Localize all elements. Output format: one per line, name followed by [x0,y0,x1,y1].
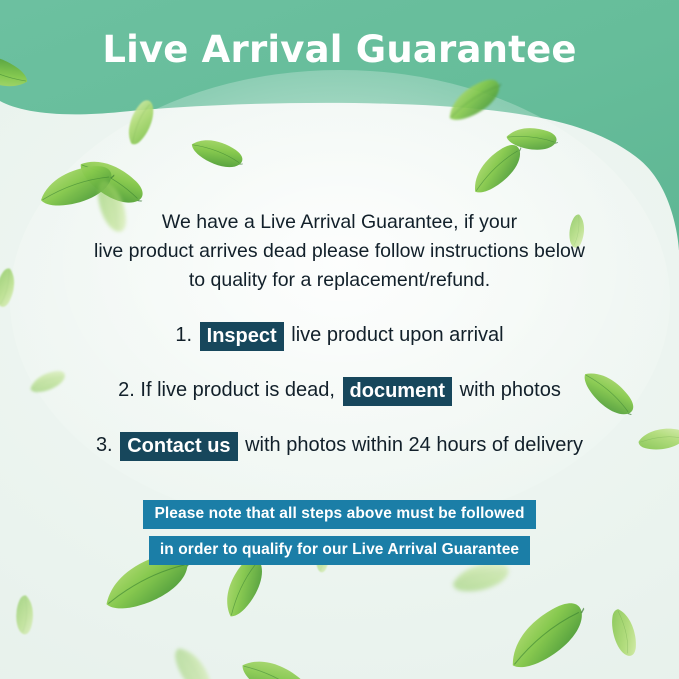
step-number-1: 1. [175,324,192,346]
step-text-1: live product upon arrival [291,324,503,346]
step-number-2: 2. [118,379,135,401]
intro-paragraph: We have a Live Arrival Guarantee, if you… [0,208,679,295]
intro-line-1: We have a Live Arrival Guarantee, if you… [0,208,679,237]
step-item-3: 3. Contact us with photos within 24 hour… [0,430,679,460]
page-title: Live Arrival Guarantee [0,28,679,71]
intro-line-3: to quality for a replacement/refund. [0,266,679,295]
step-text-2-after: with photos [460,379,561,401]
live-arrival-guarantee-poster: Live Arrival Guarantee We have a Live Ar… [0,0,679,679]
step-highlight-contact-us[interactable]: Contact us [120,432,237,461]
step-text-3: with photos within 24 hours of delivery [245,434,583,456]
intro-line-2: live product arrives dead please follow … [0,237,679,266]
step-item-2: 2. If live product is dead, document wit… [0,375,679,405]
step-highlight-document[interactable]: document [343,377,453,406]
notice-banner-line-2: in order to qualify for our Live Arrival… [149,536,530,565]
steps-list: 1. Inspect live product upon arrival 2. … [0,320,679,485]
step-text-2-before: If live product is dead, [140,379,335,401]
step-highlight-inspect[interactable]: Inspect [200,322,284,351]
notice-banners: Please note that all steps above must be… [0,500,679,565]
step-number-3: 3. [96,434,113,456]
notice-banner-line-1: Please note that all steps above must be… [143,500,535,529]
step-item-1: 1. Inspect live product upon arrival [0,320,679,350]
